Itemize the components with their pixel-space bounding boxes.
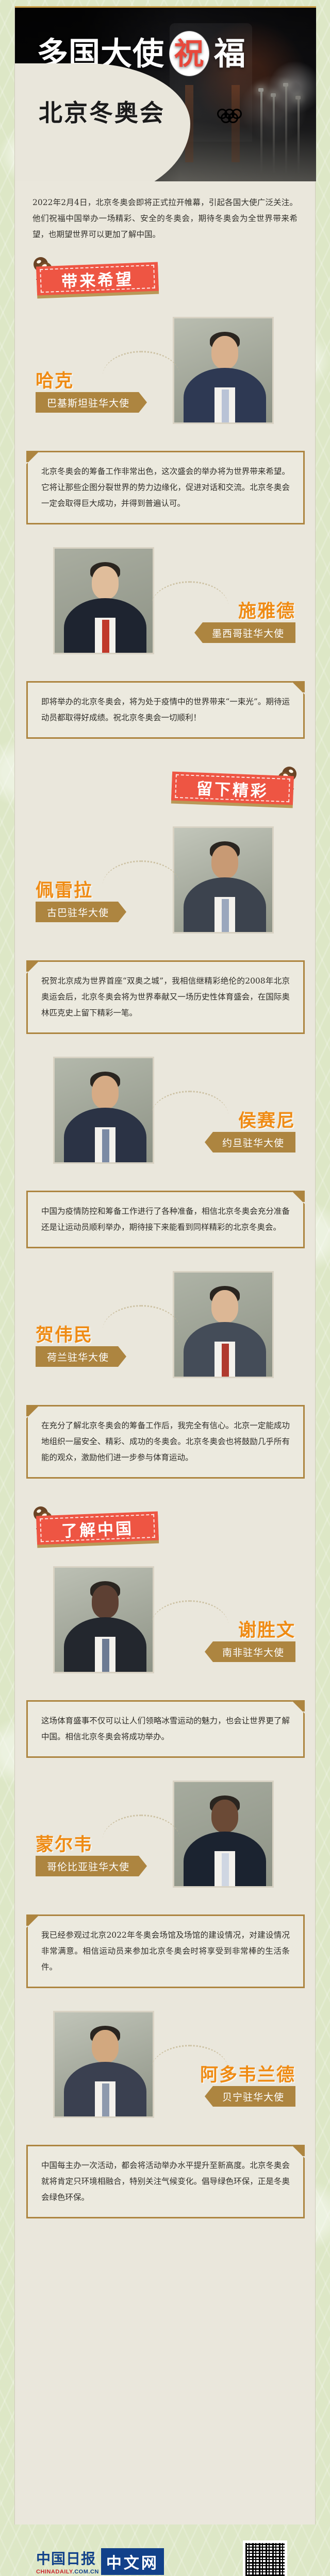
page-footer: 中国日报 CHINADAILY.COM.CN 中文网 来源：海外网 人民网 中国… (0, 2531, 330, 2576)
ambassador-name: 阿多韦兰德 (200, 2060, 295, 2087)
ambassador-quote: 祝贺北京成为世界首座“双奥之城”，我相信继精彩绝伦的2008年北京奥运会后，北京… (26, 960, 305, 1034)
ambassador-name: 蒙尔韦 (36, 1830, 93, 1856)
section-banner-wrap: 了解中国 (15, 1503, 315, 1561)
hero-banner: 多国大使 祝 福 北京冬奥会 (15, 6, 316, 181)
section-banner-label: 带来希望 (47, 265, 147, 292)
ambassador-role: 巴基斯坦驻华大使 (36, 392, 147, 413)
quote-card-wrap: 中国每主办一次活动，都会将活动举办水平提升至新高度。北京冬奥会就将肯定只环境相融… (15, 2145, 316, 2218)
ambassador-role: 约旦驻华大使 (205, 1132, 295, 1153)
ambassador-quote: 即将举办的北京冬奥会，将为处于疫情中的世界带来“一束光”。期待运动员都取得好成绩… (26, 681, 305, 739)
ambassador-quote: 这场体育盛事不仅可以让人们领略冰雪运动的魅力，也会让世界更了解中国。相信北京冬奥… (26, 1700, 305, 1758)
ambassador-block: 蒙尔韦哥伦比亚驻华大使 (15, 1781, 316, 1903)
hero-title-tail: 福 (214, 38, 246, 70)
ambassador-photo (173, 826, 274, 934)
section-banner: 留下精彩 (171, 771, 294, 805)
section-banner-label: 留下精彩 (183, 775, 283, 802)
ambassador-block: 施雅德墨西哥驻华大使 (15, 547, 316, 670)
ambassador-photo (53, 2011, 154, 2118)
hero-seal-stamp: 祝 (170, 31, 209, 76)
brand-block: 中国日报 CHINADAILY.COM.CN 中文网 来源：海外网 人民网 (36, 2548, 164, 2576)
ambassador-photo (173, 317, 274, 424)
ambassador-quote: 在充分了解北京冬奥会的筹备工作后，我完全有信心。北京一定能成功地组织一届安全、精… (26, 1405, 305, 1479)
quote-card-wrap: 北京冬奥会的筹备工作非常出色，这次盛会的举办将为世界带来希望。它将让那些企图分裂… (15, 451, 316, 524)
ambassador-name: 哈克 (36, 366, 74, 393)
quote-card-wrap: 即将举办的北京冬奥会，将为处于疫情中的世界带来“一束光”。期待运动员都取得好成绩… (15, 681, 316, 739)
chinadaily-logo[interactable]: 中国日报 CHINADAILY.COM.CN 中文网 (36, 2548, 164, 2575)
ambassador-block: 佩雷拉古巴驻华大使 (15, 826, 316, 949)
ambassador-photo (53, 1057, 154, 1164)
ambassador-quote: 我已经参观过北京2022年冬奥会场馆及场馆的建设情况，对建设情况非常满意。相信运… (26, 1914, 305, 1988)
logo-zhongwenwang-box: 中文网 (101, 2548, 164, 2575)
quote-card-wrap: 这场体育盛事不仅可以让人们领略冰雪运动的魅力，也会让世界更了解中国。相信北京冬奥… (15, 1700, 316, 1758)
ambassador-block: 阿多韦兰德贝宁驻华大使 (15, 2011, 316, 2133)
intro-paragraph: 2022年2月4日，北京冬奥会即将正式拉开帷幕，引起各国大使广泛关注。他们祝福中… (15, 181, 315, 247)
logo-url-red: CHINADAILY (36, 2569, 73, 2575)
ambassador-role: 荷兰驻华大使 (36, 1346, 126, 1367)
logo-url: CHINADAILY.COM.CN (36, 2569, 99, 2575)
ambassador-role: 古巴驻华大使 (36, 902, 126, 922)
sections-container: 带来希望哈克巴基斯坦驻华大使北京冬奥会的筹备工作非常出色，这次盛会的举办将为世界… (15, 254, 315, 2236)
section-banner-wrap: 留下精彩 (15, 764, 315, 821)
decorative-dotted-curve (103, 860, 180, 890)
ambassador-name: 谢胜文 (238, 1616, 295, 1642)
decorative-dotted-curve (103, 1305, 180, 1335)
hero-subtitle: 北京冬奥会 (39, 94, 165, 128)
decorative-dotted-curve (103, 1815, 180, 1844)
quote-card-wrap: 在充分了解北京冬奥会的筹备工作后，我完全有信心。北京一定能成功地组织一届安全、精… (15, 1405, 316, 1479)
ambassador-name: 贺伟民 (36, 1320, 93, 1347)
ambassador-photo (53, 1566, 154, 1673)
ambassador-name: 侯赛尼 (238, 1106, 295, 1132)
decorative-dotted-curve (151, 1091, 228, 1121)
ambassador-block: 哈克巴基斯坦驻华大使 (15, 317, 316, 439)
ambassador-role: 墨西哥驻华大使 (194, 622, 295, 643)
ambassador-role: 哥伦比亚驻华大使 (36, 1856, 147, 1876)
ambassador-photo (173, 1781, 274, 1888)
section-banner: 带来希望 (36, 262, 159, 295)
quote-card-wrap: 我已经参观过北京2022年冬奥会场馆及场馆的建设情况，对建设情况非常满意。相信运… (15, 1914, 316, 1988)
ambassador-role: 贝宁驻华大使 (205, 2086, 295, 2107)
section-banner-wrap: 带来希望 (15, 254, 315, 312)
ambassador-name: 施雅德 (238, 597, 295, 623)
ambassador-photo (173, 1271, 274, 1378)
section-banner-label: 了解中国 (47, 1515, 147, 1541)
logo-url-gray: .COM.CN (73, 2569, 99, 2575)
ambassador-role: 南非驻华大使 (205, 1641, 295, 1662)
qr-code-icon[interactable] (243, 2540, 287, 2576)
ambassador-block: 贺伟民荷兰驻华大使 (15, 1271, 316, 1394)
ambassador-quote: 中国每主办一次活动，都会将活动举办水平提升至新高度。北京冬奥会就将肯定只环境相融… (26, 2145, 305, 2218)
infographic-page: 多国大使 祝 福 北京冬奥会 2022年2月4日，北京冬奥会即将正式拉开帷幕，引… (0, 0, 330, 2576)
ambassador-photo (53, 547, 154, 654)
decorative-dotted-curve (103, 351, 180, 381)
quote-card-wrap: 中国为疫情防控和筹备工作进行了各种准备，相信北京冬奥会充分准备还是让运动员顺利举… (15, 1191, 316, 1248)
ambassador-name: 佩雷拉 (36, 876, 93, 902)
logo-chinese-name: 中国日报 (36, 2548, 99, 2568)
qr-block: 中国日报网微信 (236, 2540, 294, 2576)
section-banner: 了解中国 (36, 1511, 159, 1545)
content-column: 多国大使 祝 福 北京冬奥会 2022年2月4日，北京冬奥会即将正式拉开帷幕，引… (14, 6, 316, 2524)
ambassador-quote: 中国为疫情防控和筹备工作进行了各种准备，相信北京冬奥会充分准备还是让运动员顺利举… (26, 1191, 305, 1248)
ambassador-quote: 北京冬奥会的筹备工作非常出色，这次盛会的举办将为世界带来希望。它将让那些企图分裂… (26, 451, 305, 524)
decorative-dotted-curve (151, 1600, 228, 1630)
decorative-dotted-curve (151, 581, 228, 611)
quote-card-wrap: 祝贺北京成为世界首座“双奥之城”，我相信继精彩绝伦的2008年北京奥运会后，北京… (15, 960, 316, 1034)
ambassador-block: 谢胜文南非驻华大使 (15, 1566, 316, 1689)
ambassador-block: 侯赛尼约旦驻华大使 (15, 1057, 316, 1179)
